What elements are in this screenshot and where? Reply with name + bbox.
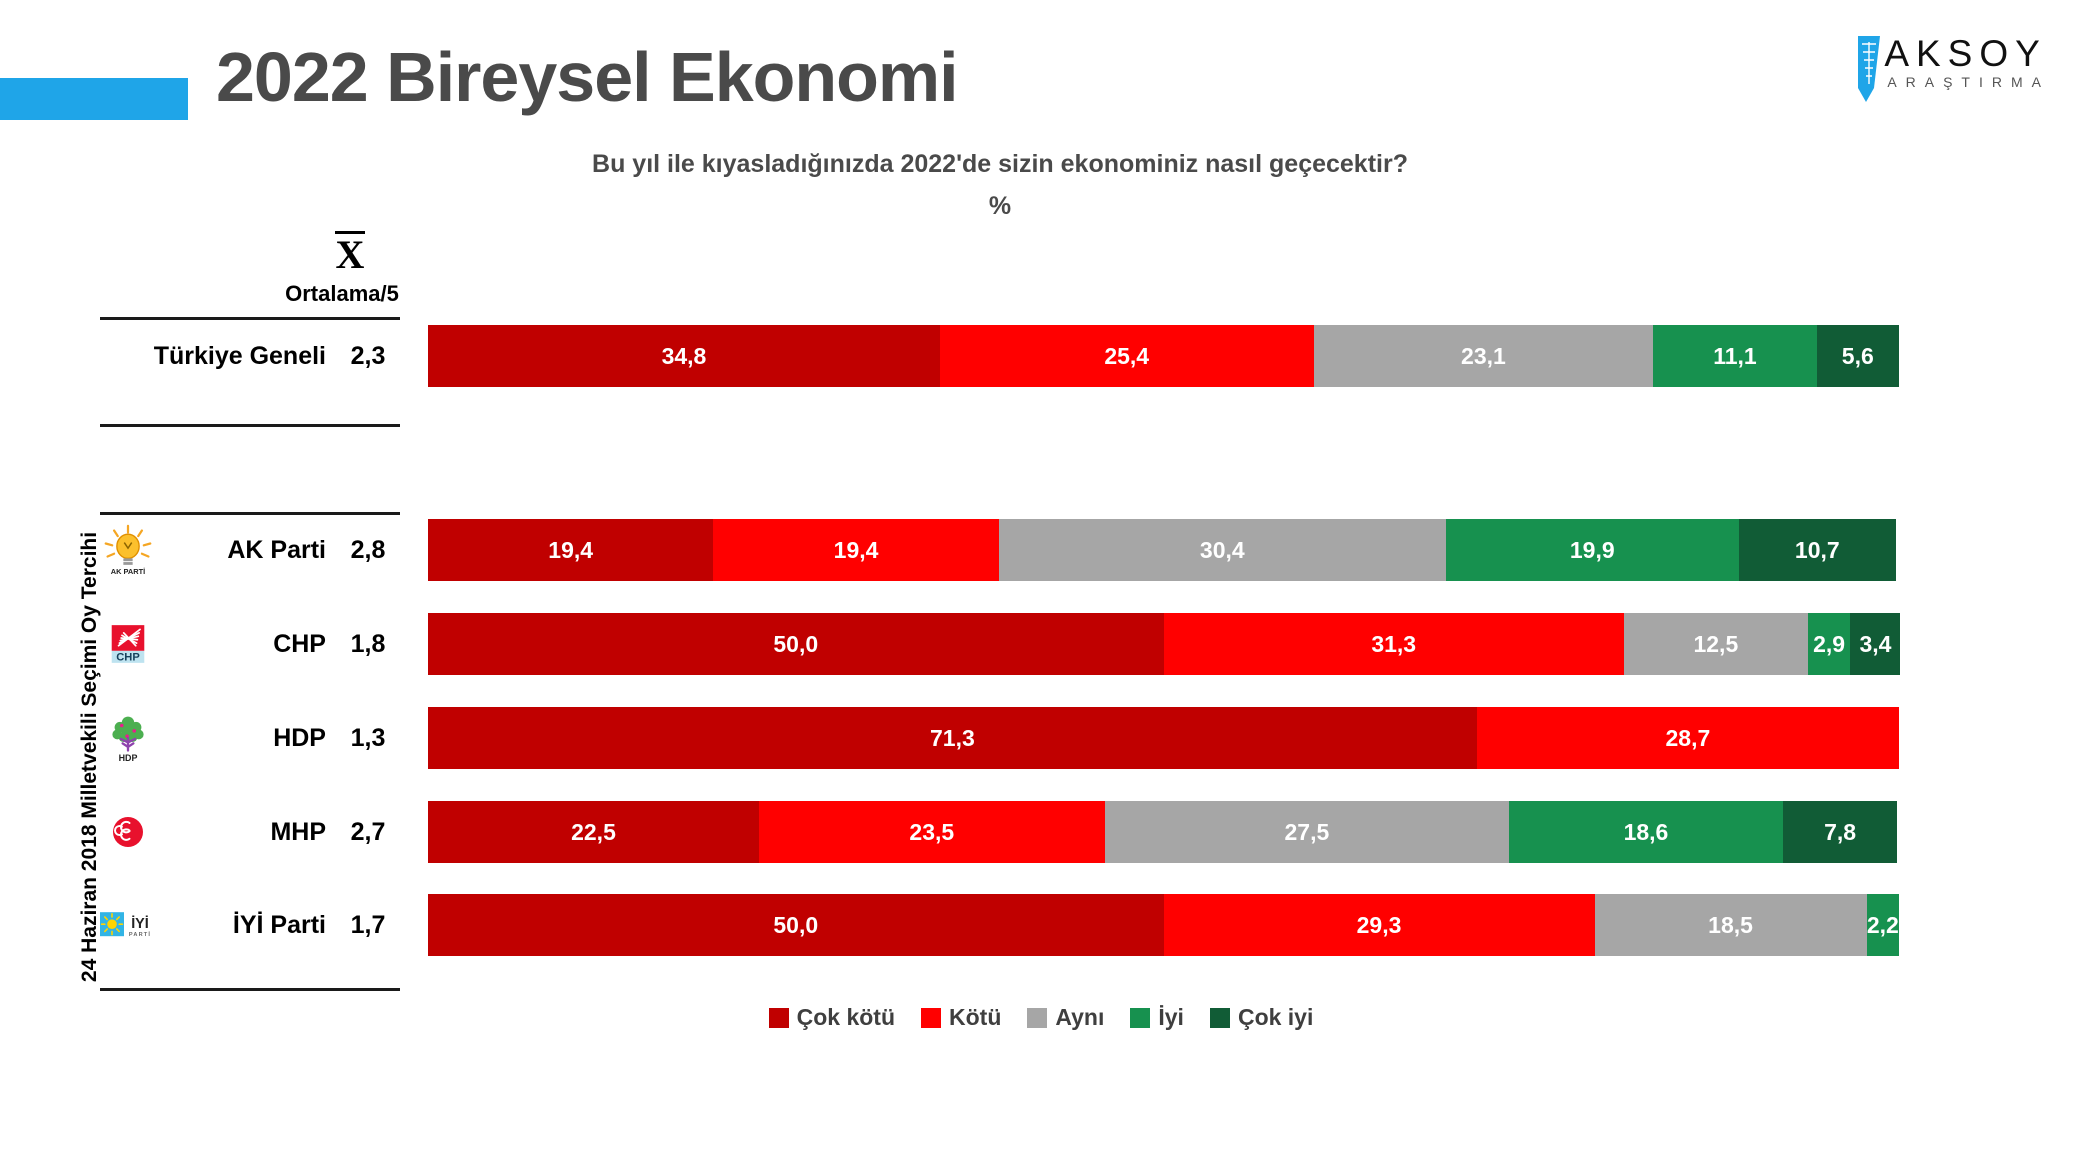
row-label-i̇yi̇-parti: İYİ PARTİ İYİ Parti1,7 — [100, 894, 400, 956]
bar-segment: 12,5 — [1624, 613, 1808, 675]
row-label-mhp: MHP2,7 — [100, 801, 400, 863]
bar-segment: 5,6 — [1817, 325, 1899, 387]
legend-item[interactable]: Çok kötü — [769, 1004, 895, 1031]
svg-text:AK PARTİ: AK PARTİ — [111, 567, 145, 576]
logo-name: AKSOY — [1884, 36, 2050, 71]
svg-text:İYİ: İYİ — [131, 915, 149, 932]
bar-segment: 34,8 — [428, 325, 940, 387]
header-rule-top — [100, 317, 400, 320]
row-category-name: AK Parti — [160, 536, 336, 565]
iyiparti-logo-icon: İYİ PARTİ — [100, 897, 156, 953]
stacked-bar-türkiye-geneli: 34,825,423,111,15,6 — [428, 325, 1899, 387]
chp-logo-icon: CHP — [100, 616, 156, 672]
party-group-rule-bottom — [100, 988, 400, 991]
no-icon-placeholder — [100, 328, 110, 384]
legend-item[interactable]: Çok iyi — [1210, 1004, 1313, 1031]
bar-segment: 29,3 — [1164, 894, 1595, 956]
mhp-logo-icon — [107, 811, 149, 853]
bar-segment: 10,7 — [1739, 519, 1896, 581]
stacked-bar-hdp: 71,328,7 — [428, 707, 1899, 769]
quill-feather-icon — [1856, 36, 1882, 102]
hdp-logo-icon: HDP — [103, 713, 153, 763]
page-title: 2022 Bireysel Ekonomi — [216, 37, 958, 117]
bar-segment: 19,9 — [1446, 519, 1739, 581]
row-category-name: İYİ Parti — [160, 911, 336, 940]
stacked-bar-chp: 50,031,312,52,93,4 — [428, 613, 1899, 675]
legend-swatch — [769, 1008, 789, 1028]
iyiparti-logo-icon: İYİ PARTİ — [100, 905, 156, 945]
bar-segment: 50,0 — [428, 894, 1164, 956]
mean-symbol: X — [318, 231, 382, 275]
mean-column-header: Ortalama/5 — [268, 281, 416, 307]
legend-label: Aynı — [1055, 1004, 1104, 1031]
bar-segment: 22,5 — [428, 801, 759, 863]
bar-segment: 18,6 — [1509, 801, 1783, 863]
bar-segment: 2,9 — [1808, 613, 1851, 675]
row-mean-value: 2,8 — [336, 536, 400, 565]
bar-segment: 28,7 — [1477, 707, 1899, 769]
chp-logo-icon: CHP — [104, 620, 152, 668]
row-label-türkiye-geneli: Türkiye Geneli2,3 — [100, 325, 400, 387]
bar-segment: 2,2 — [1867, 894, 1899, 956]
row-category-name: CHP — [160, 630, 336, 659]
akparti-logo-icon: AK PARTİ — [100, 522, 156, 578]
bar-segment: 3,4 — [1850, 613, 1900, 675]
legend-label: Çok kötü — [797, 1004, 895, 1031]
stacked-bar-mhp: 22,523,527,518,67,8 — [428, 801, 1899, 863]
legend-swatch — [1130, 1008, 1150, 1028]
legend-item[interactable]: Kötü — [921, 1004, 1001, 1031]
legend-swatch — [921, 1008, 941, 1028]
row-category-name: MHP — [160, 818, 336, 847]
svg-text:HDP: HDP — [119, 753, 138, 763]
bar-segment: 18,5 — [1595, 894, 1867, 956]
chart-subtitle: Bu yıl ile kıyasladığınızda 2022'de sizi… — [400, 150, 1600, 179]
logo-subtitle: ARAŞTIRMA — [1887, 74, 2050, 90]
row-label-hdp: HDP HDP1,3 — [100, 707, 400, 769]
legend-swatch — [1210, 1008, 1230, 1028]
row-label-ak-parti: AK PARTİ AK Parti2,8 — [100, 519, 400, 581]
chart-legend: Çok kötüKötüAynıİyiÇok iyi — [0, 1004, 2082, 1031]
legend-swatch — [1027, 1008, 1047, 1028]
bar-segment: 23,1 — [1314, 325, 1654, 387]
akparti-logo-icon: AK PARTİ — [102, 524, 154, 576]
party-group-rule-top — [100, 512, 400, 515]
row-label-chp: CHP CHP1,8 — [100, 613, 400, 675]
chart-unit-label: % — [400, 192, 1600, 221]
bar-segment: 19,4 — [428, 519, 713, 581]
legend-label: İyi — [1158, 1004, 1184, 1031]
legend-item[interactable]: Aynı — [1027, 1004, 1104, 1031]
mean-symbol-letter: X — [336, 232, 365, 277]
bar-segment: 31,3 — [1164, 613, 1624, 675]
bar-segment: 19,4 — [713, 519, 998, 581]
row-mean-value: 2,7 — [336, 818, 400, 847]
bar-segment: 71,3 — [428, 707, 1477, 769]
row-category-name: Türkiye Geneli — [114, 342, 336, 371]
bar-segment: 11,1 — [1653, 325, 1816, 387]
row-mean-value: 1,7 — [336, 911, 400, 940]
row-mean-value: 2,3 — [336, 342, 400, 371]
svg-text:PARTİ: PARTİ — [129, 931, 151, 938]
bar-segment: 27,5 — [1105, 801, 1510, 863]
row-mean-value: 1,3 — [336, 724, 400, 753]
aksoy-logo: AKSOY ARAŞTIRMA — [1856, 36, 2050, 102]
bar-segment: 25,4 — [940, 325, 1314, 387]
title-accent-bar — [0, 78, 188, 120]
bar-segment: 30,4 — [999, 519, 1446, 581]
bar-segment: 7,8 — [1783, 801, 1898, 863]
y-axis-label: 24 Haziran 2018 Milletvekili Seçimi Oy T… — [78, 497, 102, 1017]
bar-segment: 50,0 — [428, 613, 1164, 675]
row-mean-value: 1,8 — [336, 630, 400, 659]
hdp-logo-icon: HDP — [100, 710, 156, 766]
legend-item[interactable]: İyi — [1130, 1004, 1184, 1031]
mhp-logo-icon — [100, 804, 156, 860]
row-category-name: HDP — [160, 724, 336, 753]
header-rule-bottom — [100, 424, 400, 427]
legend-label: Çok iyi — [1238, 1004, 1313, 1031]
stacked-bar-ak-parti: 19,419,430,419,910,7 — [428, 519, 1899, 581]
stacked-bar-i̇yi̇-parti: 50,029,318,52,2 — [428, 894, 1899, 956]
legend-label: Kötü — [949, 1004, 1001, 1031]
svg-text:CHP: CHP — [116, 651, 140, 663]
bar-segment: 23,5 — [759, 801, 1105, 863]
